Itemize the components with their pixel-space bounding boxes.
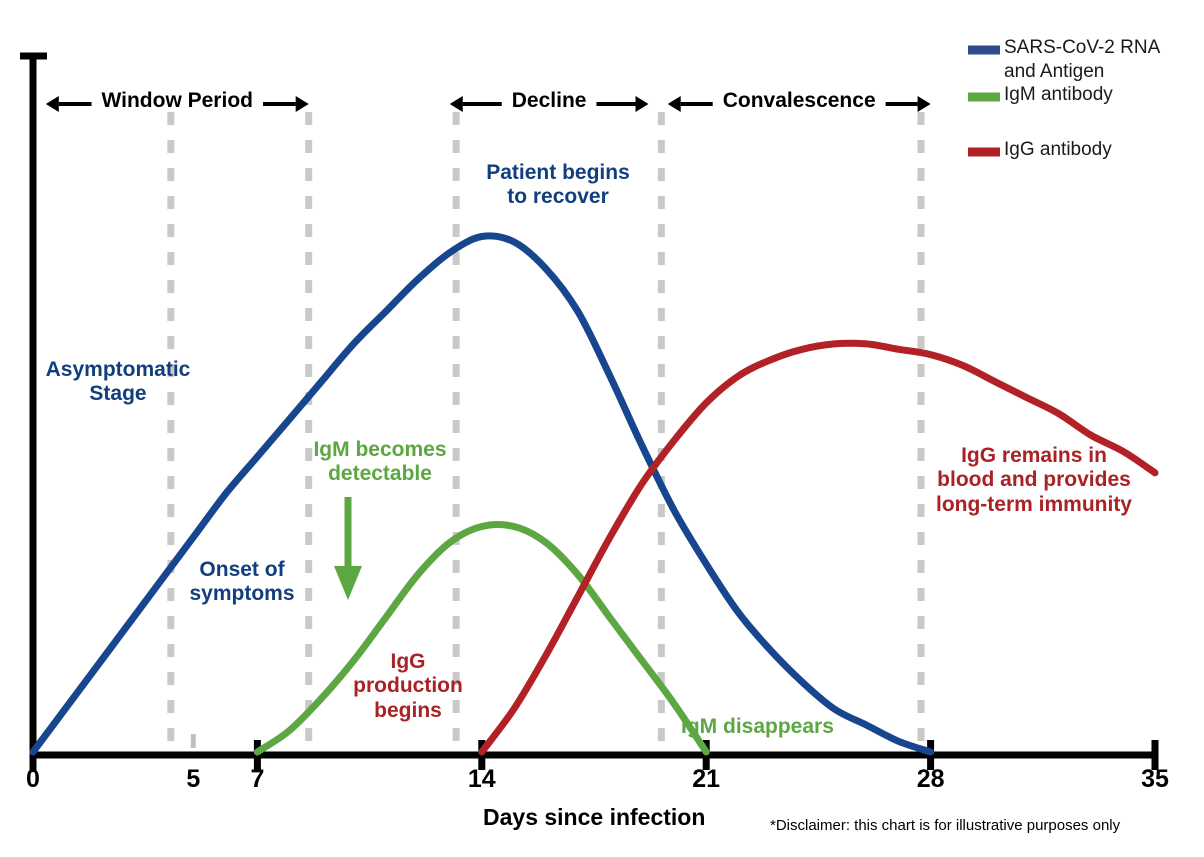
annotation-patient-begins-to-recover: Patient begins to recover xyxy=(460,161,656,210)
covid-timeline-chart xyxy=(0,0,1204,857)
phase-0-arrowhead-left xyxy=(46,96,59,112)
legend-swatches xyxy=(968,50,1000,152)
annotation-igg-remains: IgG remains in blood and provides long-t… xyxy=(918,444,1150,517)
annotation-igm-disappears: IgM disappears xyxy=(681,715,881,739)
legend-label-2: IgG antibody xyxy=(1004,138,1204,162)
x-axis-title: Days since infection xyxy=(483,804,705,831)
legend-label-1: IgM antibody xyxy=(1004,83,1204,107)
series-curve-1 xyxy=(257,524,706,752)
phase-2-arrowhead-right xyxy=(918,96,931,112)
legend-label-0: SARS-CoV-2 RNA and Antigen xyxy=(1004,36,1204,84)
phase-label-decline: Decline xyxy=(512,89,587,113)
annotation-asymptomatic-stage: Asymptomatic Stage xyxy=(28,358,208,407)
igm-annotation-arrow xyxy=(334,497,362,600)
annotation-onset-of-symptoms: Onset of symptoms xyxy=(168,558,316,607)
x-tick-label-28: 28 xyxy=(891,765,971,794)
x-tick-label-7: 7 xyxy=(217,765,297,794)
x-tick-label-14: 14 xyxy=(442,765,522,794)
x-tick-label-35: 35 xyxy=(1115,765,1195,794)
phase-0-arrowhead-right xyxy=(296,96,309,112)
annotation-igg-production-begins: IgG production begins xyxy=(344,650,472,723)
x-tick-label-0: 0 xyxy=(0,765,73,794)
phase-1-arrowhead-left xyxy=(450,96,463,112)
disclaimer-text: *Disclaimer: this chart is for illustrat… xyxy=(770,817,1120,834)
phase-1-arrowhead-right xyxy=(635,96,648,112)
phase-label-convalescence: Convalescence xyxy=(723,89,876,113)
x-tick-label-21: 21 xyxy=(666,765,746,794)
chart-container: Window Period Decline Convalescence Asym… xyxy=(0,0,1204,857)
phase-2-arrowhead-left xyxy=(668,96,681,112)
phase-label-window-period: Window Period xyxy=(102,89,253,113)
series-curve-2 xyxy=(482,343,1155,752)
annotation-igm-becomes-detectable: IgM becomes detectable xyxy=(310,438,450,487)
